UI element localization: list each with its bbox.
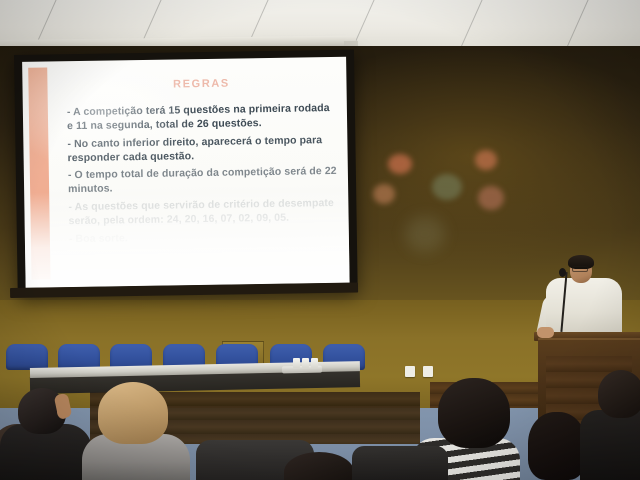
- slide-bullet: - A competição terá 15 questões na prime…: [67, 102, 337, 134]
- slide-bullet: - O tempo total de duração da competição…: [68, 165, 338, 197]
- microphone-icon: [559, 268, 566, 277]
- foreground-chair: [352, 446, 448, 480]
- audience-head: [438, 378, 510, 448]
- slide-title: REGRAS: [66, 76, 336, 92]
- slide-bullet: - Boa sorte.: [69, 229, 339, 247]
- chair: [6, 344, 48, 370]
- wall-outlet: [423, 366, 433, 377]
- lecture-hall-photo: REGRAS - A competição terá 15 questões n…: [0, 0, 640, 480]
- presentation-slide: REGRAS - A competição terá 15 questões n…: [22, 57, 350, 288]
- lens-flare-spot: [478, 186, 504, 210]
- water-glass: [302, 358, 309, 368]
- slide-bullet: - No canto inferior direito, aparecerá o…: [67, 134, 337, 166]
- projection-screen: REGRAS - A competição terá 15 questões n…: [14, 50, 358, 295]
- audience-head: [528, 412, 586, 480]
- wall-outlet: [405, 366, 415, 377]
- eyeglasses-icon: [572, 266, 588, 272]
- speaker-hand: [537, 327, 554, 338]
- speaker-torso: [546, 278, 622, 340]
- slide-bullet-list: - A competição terá 15 questões na prime…: [67, 102, 339, 247]
- lens-flare-spot: [475, 150, 497, 170]
- slide-bullet: - As questões que servirão de critério d…: [68, 197, 338, 229]
- lens-flare-spot: [373, 184, 395, 204]
- lens-flare-spot: [388, 154, 412, 174]
- lens-flare-spot: [432, 174, 462, 200]
- audience-head: [98, 382, 168, 444]
- water-glass: [311, 358, 318, 368]
- slide-accent-bar: [28, 67, 50, 279]
- audience-torso: [580, 410, 640, 480]
- audience-head: [598, 370, 640, 418]
- slide-content: REGRAS - A competição terá 15 questões n…: [66, 67, 339, 283]
- lens-flare-spot: [405, 216, 445, 252]
- water-glass: [293, 358, 300, 368]
